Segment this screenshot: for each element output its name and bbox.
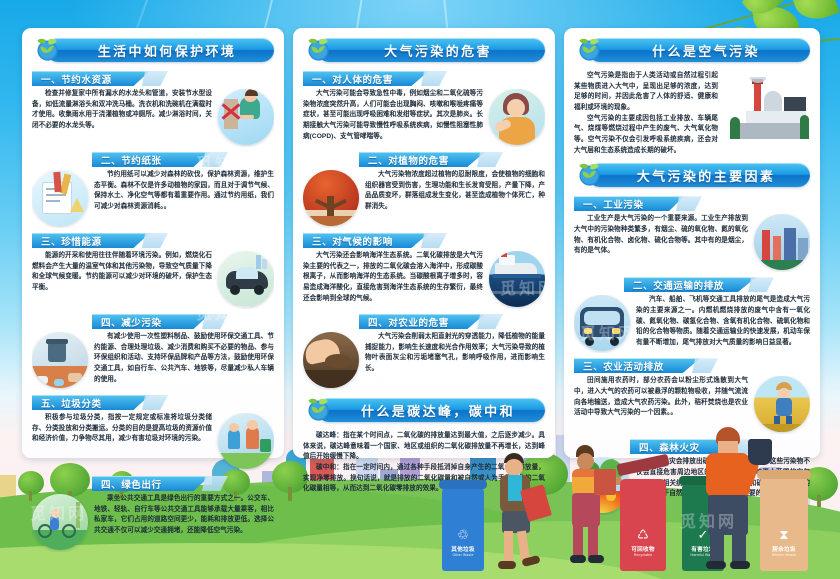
eco-globe-icon <box>574 160 605 188</box>
panel-banner: 生活中如何保护环境 <box>32 37 274 64</box>
bin-label-en: Other Waste <box>442 553 484 557</box>
paper-notebook-icon <box>32 170 88 226</box>
section-block: 乘坐公共交通工具是绿色出行的重要方式之一。公交车、地铁、轻轨、自行车等公共交通工… <box>32 494 274 552</box>
person-figure <box>488 453 546 571</box>
section-heading: 一、工业污染 <box>574 196 810 211</box>
eco-globe-icon <box>303 35 334 63</box>
panel-title: 大气污染的危害 <box>370 41 492 60</box>
section-heading: 二、对植物的危害 <box>303 152 545 167</box>
bin-symbol: ⧗ <box>760 527 808 543</box>
section-heading: 四、减少污染 <box>32 314 274 329</box>
section-heading-text: 一、工业污染 <box>583 197 644 211</box>
section-heading-text: 二、对植物的危害 <box>368 153 449 167</box>
panel-title-secondary: 什么是碳达峰，碳中和 <box>347 401 515 420</box>
panel-title: 生活中如何保护环境 <box>84 41 237 60</box>
section-block: 大气污染还会影响海洋生态系统。二氧化碳排放是大气污染主要的代表之一，排放的二氧化… <box>303 251 545 309</box>
eco-globe-icon <box>574 35 605 63</box>
section-block: 能源的开采和使用往往伴随着环境污染。例如，燃烧化石燃料会产生大量的温室气体和其他… <box>32 251 274 309</box>
panel-what-is-air-pollution: 什么是空气污染 空气污染是指由于人类活动或自然过程引起某些物质进入大气中，呈现出… <box>564 28 820 458</box>
recycling-bins-scene: ♲ 其他垃圾 Other Waste ♺ 可回收物 <box>430 427 840 577</box>
section-heading-text: 一、节约水资源 <box>41 72 112 86</box>
section-block: 大气污染会削弱太阳直射光的穿透能力，降低植物的能量捕捉能力，影响生长速度和光合作… <box>303 332 545 390</box>
bin-label: 可回收物 Recyclable <box>620 545 666 557</box>
panel-banner-bar: 大气污染的主要因素 <box>588 163 810 187</box>
section-heading-text: 四、对农业的危害 <box>368 315 449 329</box>
section-heading-text: 三、珍惜能源 <box>41 234 102 248</box>
panel-title-secondary: 大气污染的主要因素 <box>623 166 776 185</box>
bin-label-en: Kitchen Waste <box>760 553 808 557</box>
leaf-icon <box>792 0 840 26</box>
panel-banner-bar: 什么是空气污染 <box>588 38 810 62</box>
section-block: 汽车、船舶、飞机等交通工具排放的尾气是造成大气污染的主要来源之一。内燃机燃烧排放… <box>574 295 810 353</box>
electric-car-icon <box>218 251 274 307</box>
factory-smokestack-icon <box>724 77 810 151</box>
farmer-field-icon <box>754 376 810 432</box>
bus-transport-icon <box>574 295 630 351</box>
eco-globe-icon <box>32 35 63 63</box>
section-heading: 三、农业活动排放 <box>574 358 810 373</box>
section-block: 工业生产是大气污染的一个重要来源。工业生产排放到大气中的污染物种类繁多，有烟尘、… <box>574 214 810 272</box>
bicycle-green-travel-icon <box>32 494 88 550</box>
hand-soil-icon <box>303 332 359 388</box>
panel-banner-bar: 什么是碳达峰，碳中和 <box>317 398 545 422</box>
section-block: 检查并修复家中所有漏水的水龙头和管道，安装节水型设备，如低流量淋浴头和双冲洗马桶… <box>32 89 274 147</box>
person-figure <box>696 433 764 571</box>
faucet-repair-icon <box>218 89 274 145</box>
section-heading-text: 三、农业活动排放 <box>583 359 664 373</box>
panel-banner-bar: 生活中如何保护环境 <box>46 38 274 62</box>
section-heading: 三、对气候的影响 <box>303 233 545 248</box>
ocean-ship-icon <box>489 251 545 307</box>
section-heading: 二、节约纸张 <box>32 152 274 167</box>
section-block: 田间施用农药时，部分农药会以粉尘形式逸散到大气中，进入大气的农药可以被悬浮的颗粒… <box>574 376 810 434</box>
bin-label: 厨余垃圾 Kitchen Waste <box>760 545 808 557</box>
poster-root: 生活中如何保护环境 一、节约水资源 检查并修复家中所有漏水的水龙头和管道，安装节… <box>0 0 840 579</box>
bin-recyclable[interactable]: ♺ 可回收物 Recyclable <box>620 479 666 571</box>
bin-lid[interactable] <box>616 454 669 477</box>
kids-recycling-icon <box>218 413 274 469</box>
autumn-tree-icon <box>303 170 359 226</box>
section-block: 积极参与垃圾分类，指按一定规定或标准将垃圾分类储存、分类投放和分类搬运。分类的目… <box>32 413 274 471</box>
industrial-plant-icon <box>754 214 810 270</box>
section-heading-text: 二、交通运输的排放 <box>633 278 724 292</box>
section-block: 大气污染可能会导致急性中毒，例如烟尘和二氧化硫等污染物浓度突然升高，人们可能会出… <box>303 89 545 147</box>
eco-globe-icon <box>303 395 334 423</box>
panel-banner: 大气污染的危害 <box>303 37 545 64</box>
section-heading: 四、绿色出行 <box>32 476 274 491</box>
bin-label: 其他垃圾 Other Waste <box>442 545 484 557</box>
section-heading: 五、垃圾分类 <box>32 395 274 410</box>
bin-symbol: ♲ <box>442 527 484 543</box>
section-heading: 一、节约水资源 <box>32 71 274 86</box>
bin-lid[interactable] <box>439 480 487 489</box>
panel-banner-secondary: 大气污染的主要因素 <box>574 162 810 189</box>
section-heading-text: 四、绿色出行 <box>101 477 162 491</box>
panel-title: 什么是空气污染 <box>638 41 760 60</box>
bin-lid[interactable] <box>757 470 811 479</box>
section-block: 大气污染物浓度超过植物的忍耐限度，会使植物的细胞和组织器官受到伤害，生理功能和生… <box>303 170 545 228</box>
bin-kitchen-waste[interactable]: ⧗ 厨余垃圾 Kitchen Waste <box>760 477 808 571</box>
panel-air-pollution-harm: 大气污染的危害 一、对人体的危害 大气污染可能会导致急性中毒，例如烟尘和二氧化硫… <box>293 28 555 458</box>
waste-pollution-icon <box>32 332 88 388</box>
section-heading-text: 四、减少污染 <box>101 315 162 329</box>
section-block: 节约用纸可以减少对森林的砍伐，保护森林资源，维护生态平衡。森林不仅是许多动植物的… <box>32 170 274 228</box>
section-heading: 一、对人体的危害 <box>303 71 545 86</box>
panel-banner-secondary: 什么是碳达峰，碳中和 <box>303 397 545 424</box>
bin-symbol: ♺ <box>620 527 666 543</box>
section-block: 有减少使用一次性塑料制品、鼓励使用环保交通工具、节约能源、合理处理垃圾、减少消费… <box>32 332 274 390</box>
panel-life-environment: 生活中如何保护环境 一、节约水资源 检查并修复家中所有漏水的水龙头和管道，安装节… <box>22 28 284 458</box>
panel-banner-bar: 大气污染的危害 <box>317 38 545 62</box>
section-heading: 二、交通运输的排放 <box>574 277 810 292</box>
intro-block: 空气污染是指由于人类活动或自然过程引起某些物质进入大气中，呈现出足够的浓度，达到… <box>574 71 810 156</box>
person-figure <box>558 447 616 571</box>
panel-banner: 什么是空气污染 <box>574 37 810 64</box>
coughing-person-icon <box>489 89 545 145</box>
bin-other-waste[interactable]: ♲ 其他垃圾 Other Waste <box>442 487 484 571</box>
section-heading: 三、珍惜能源 <box>32 233 274 248</box>
section-heading-text: 二、节约纸张 <box>101 153 162 167</box>
section-heading-text: 一、对人体的危害 <box>312 72 393 86</box>
section-heading-text: 三、对气候的影响 <box>312 234 393 248</box>
bin-label-en: Recyclable <box>620 553 666 557</box>
section-heading: 四、对农业的危害 <box>303 314 545 329</box>
section-heading-text: 五、垃圾分类 <box>41 396 102 410</box>
